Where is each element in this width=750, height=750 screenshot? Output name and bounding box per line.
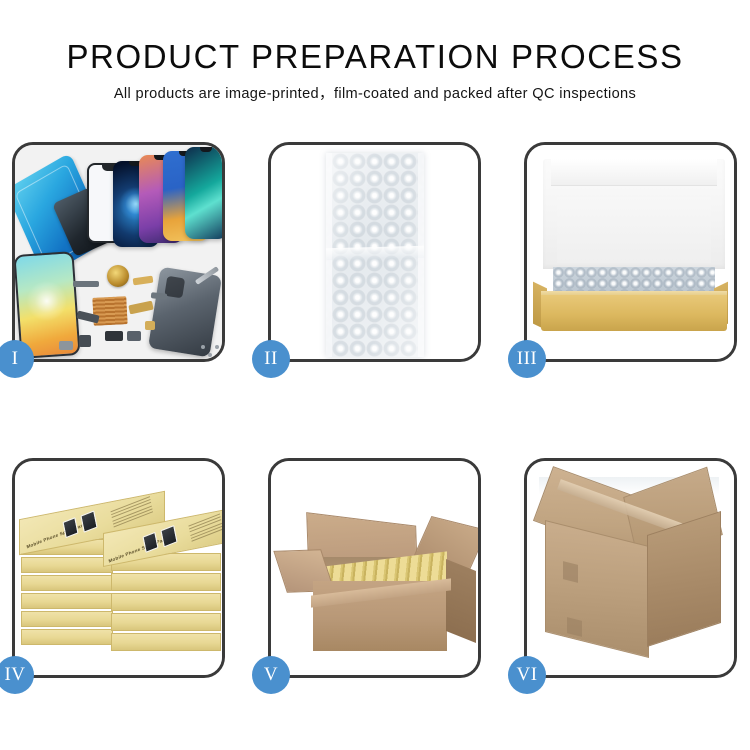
inner-box-scene bbox=[527, 145, 734, 359]
step-badge-2: II bbox=[252, 340, 290, 378]
stacked-box bbox=[111, 633, 221, 651]
phone-graphic bbox=[160, 525, 177, 547]
coil-icon bbox=[107, 265, 129, 287]
infographic-page: PRODUCT PREPARATION PROCESS All products… bbox=[0, 0, 750, 750]
process-step-4: Mobile Phone Spare Parts Mobile Phone Sp… bbox=[12, 458, 225, 678]
phone-parts-scene bbox=[15, 145, 222, 359]
process-step-2: II bbox=[268, 142, 481, 362]
stacked-box bbox=[21, 629, 113, 645]
step-badge-1: I bbox=[0, 340, 34, 378]
step-5-image bbox=[271, 461, 478, 675]
page-subtitle: All products are image-printed，film-coat… bbox=[0, 85, 750, 104]
part-icon bbox=[105, 331, 123, 341]
step-badge-3: III bbox=[508, 340, 546, 378]
step-3-image bbox=[527, 145, 734, 359]
part-icon bbox=[59, 341, 73, 350]
process-step-5: V bbox=[268, 458, 481, 678]
box-spec-lines bbox=[188, 513, 222, 543]
stacked-box bbox=[21, 557, 113, 573]
stacked-box bbox=[111, 573, 221, 591]
sealed-carton-scene bbox=[527, 461, 734, 675]
process-step-1: I bbox=[12, 142, 225, 362]
step-4-image: Mobile Phone Spare Parts Mobile Phone Sp… bbox=[15, 461, 222, 675]
screw-icon bbox=[208, 353, 212, 357]
phone-graphic bbox=[62, 517, 78, 538]
phone-graphic bbox=[142, 532, 158, 553]
stacked-box bbox=[21, 575, 113, 591]
part-icon bbox=[151, 292, 168, 300]
process-row-1: I II bbox=[12, 142, 738, 362]
phone-screen-teal-icon bbox=[185, 147, 222, 239]
step-badge-4: IV bbox=[0, 656, 34, 694]
process-step-grid: I II bbox=[12, 142, 738, 678]
step-6-image bbox=[527, 461, 734, 675]
part-icon bbox=[128, 301, 153, 315]
phone-back-housing-icon bbox=[148, 267, 222, 358]
stacked-box bbox=[21, 593, 113, 609]
process-step-3: III bbox=[524, 142, 737, 362]
step-badge-5: V bbox=[252, 656, 290, 694]
carton-handle-tab bbox=[563, 561, 578, 583]
box-interior bbox=[557, 197, 711, 263]
part-icon bbox=[127, 331, 141, 341]
process-row-2: Mobile Phone Spare Parts Mobile Phone Sp… bbox=[12, 458, 738, 678]
step-badge-6: VI bbox=[508, 656, 546, 694]
open-carton-scene bbox=[271, 461, 478, 675]
stacked-box bbox=[111, 593, 221, 611]
box-front-panel bbox=[541, 295, 727, 331]
carton-right-face bbox=[647, 511, 721, 647]
screw-icon bbox=[215, 345, 219, 349]
bubble-wrap-sheen bbox=[326, 153, 424, 357]
process-step-6: VI bbox=[524, 458, 737, 678]
bubble-wrap-scene bbox=[271, 145, 478, 359]
carton-handle-tab bbox=[567, 617, 582, 637]
stacked-boxes-scene: Mobile Phone Spare Parts Mobile Phone Sp… bbox=[15, 461, 222, 675]
step-1-image bbox=[15, 145, 222, 359]
carton-side-panel bbox=[446, 559, 476, 643]
stacked-box bbox=[111, 613, 221, 631]
part-icon bbox=[133, 276, 154, 286]
part-icon bbox=[73, 281, 99, 287]
page-title: PRODUCT PREPARATION PROCESS bbox=[0, 38, 750, 76]
screw-icon bbox=[201, 345, 205, 349]
step-2-image bbox=[271, 145, 478, 359]
part-icon bbox=[79, 335, 91, 347]
part-icon bbox=[145, 321, 155, 330]
header: PRODUCT PREPARATION PROCESS All products… bbox=[0, 0, 750, 104]
stacked-box bbox=[21, 611, 113, 627]
phone-graphic bbox=[80, 510, 97, 532]
